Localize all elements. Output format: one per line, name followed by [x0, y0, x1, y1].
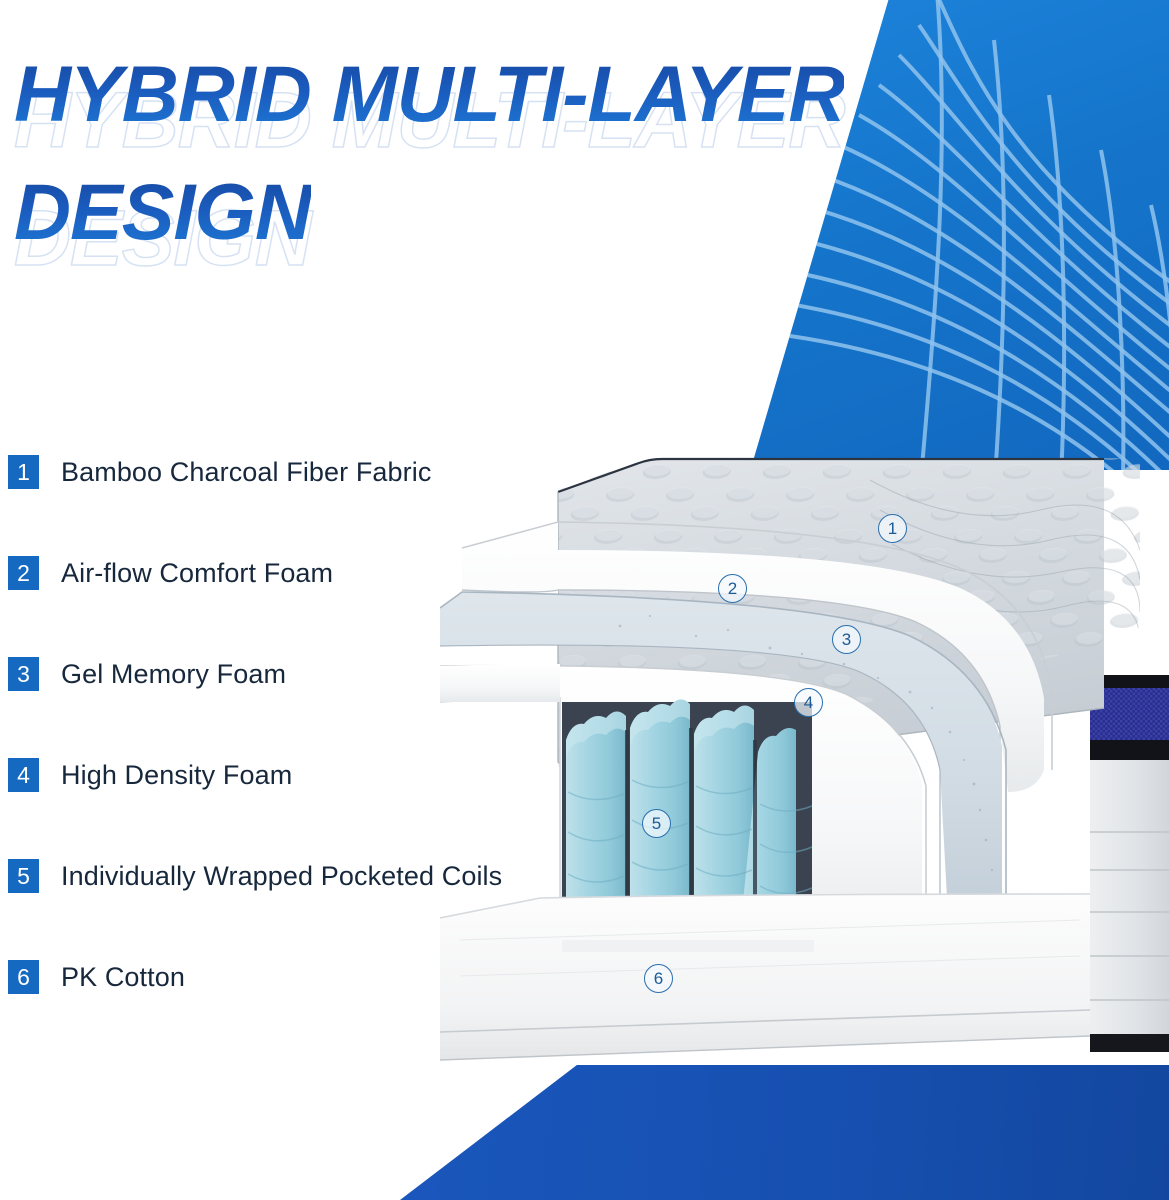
legend-item-6: 6 PK Cotton: [8, 957, 502, 997]
legend-label-5: Individually Wrapped Pocketed Coils: [61, 861, 502, 892]
legend-badge-6: 6: [8, 960, 39, 994]
callout-marker-5[interactable]: 5: [642, 809, 671, 838]
legend-badge-1: 1: [8, 455, 39, 489]
page-title: HYBRID MULTI-LAYER HYBRID MULTI-LAYER HY…: [14, 50, 1134, 256]
legend-item-1: 1 Bamboo Charcoal Fiber Fabric: [8, 452, 502, 492]
headline-line-1: HYBRID MULTI-LAYER HYBRID MULTI-LAYER HY…: [14, 50, 1134, 138]
callout-marker-2[interactable]: 2: [718, 574, 747, 603]
callout-marker-3[interactable]: 3: [832, 625, 861, 654]
legend-label-6: PK Cotton: [61, 962, 185, 993]
legend-badge-5: 5: [8, 859, 39, 893]
legend-label-3: Gel Memory Foam: [61, 659, 286, 690]
legend-item-4: 4 High Density Foam: [8, 755, 502, 795]
callout-marker-6[interactable]: 6: [644, 964, 673, 993]
legend-label-2: Air-flow Comfort Foam: [61, 558, 333, 589]
legend-badge-4: 4: [8, 758, 39, 792]
infographic-canvas: HYBRID MULTI-LAYER HYBRID MULTI-LAYER HY…: [0, 0, 1169, 1200]
legend-badge-2: 2: [8, 556, 39, 590]
callout-marker-4[interactable]: 4: [794, 688, 823, 717]
legend-item-5: 5 Individually Wrapped Pocketed Coils: [8, 856, 502, 896]
headline-line-2: DESIGN DESIGN: [14, 168, 1134, 256]
headline-line-1-text: HYBRID MULTI-LAYER: [14, 50, 844, 138]
legend-label-1: Bamboo Charcoal Fiber Fabric: [61, 457, 431, 488]
mattress-cutaway-illustration: [440, 440, 1169, 1080]
mattress-side-profile: [1090, 675, 1169, 1052]
legend-label-4: High Density Foam: [61, 760, 292, 791]
legend-item-2: 2 Air-flow Comfort Foam: [8, 553, 502, 593]
decorative-blue-wedge-bottom: [400, 1065, 1169, 1200]
legend-item-3: 3 Gel Memory Foam: [8, 654, 502, 694]
headline-line-2-text: DESIGN: [14, 168, 311, 256]
callout-marker-1[interactable]: 1: [878, 514, 907, 543]
legend-badge-3: 3: [8, 657, 39, 691]
layer-legend-list: 1 Bamboo Charcoal Fiber Fabric 2 Air-flo…: [8, 452, 502, 1058]
